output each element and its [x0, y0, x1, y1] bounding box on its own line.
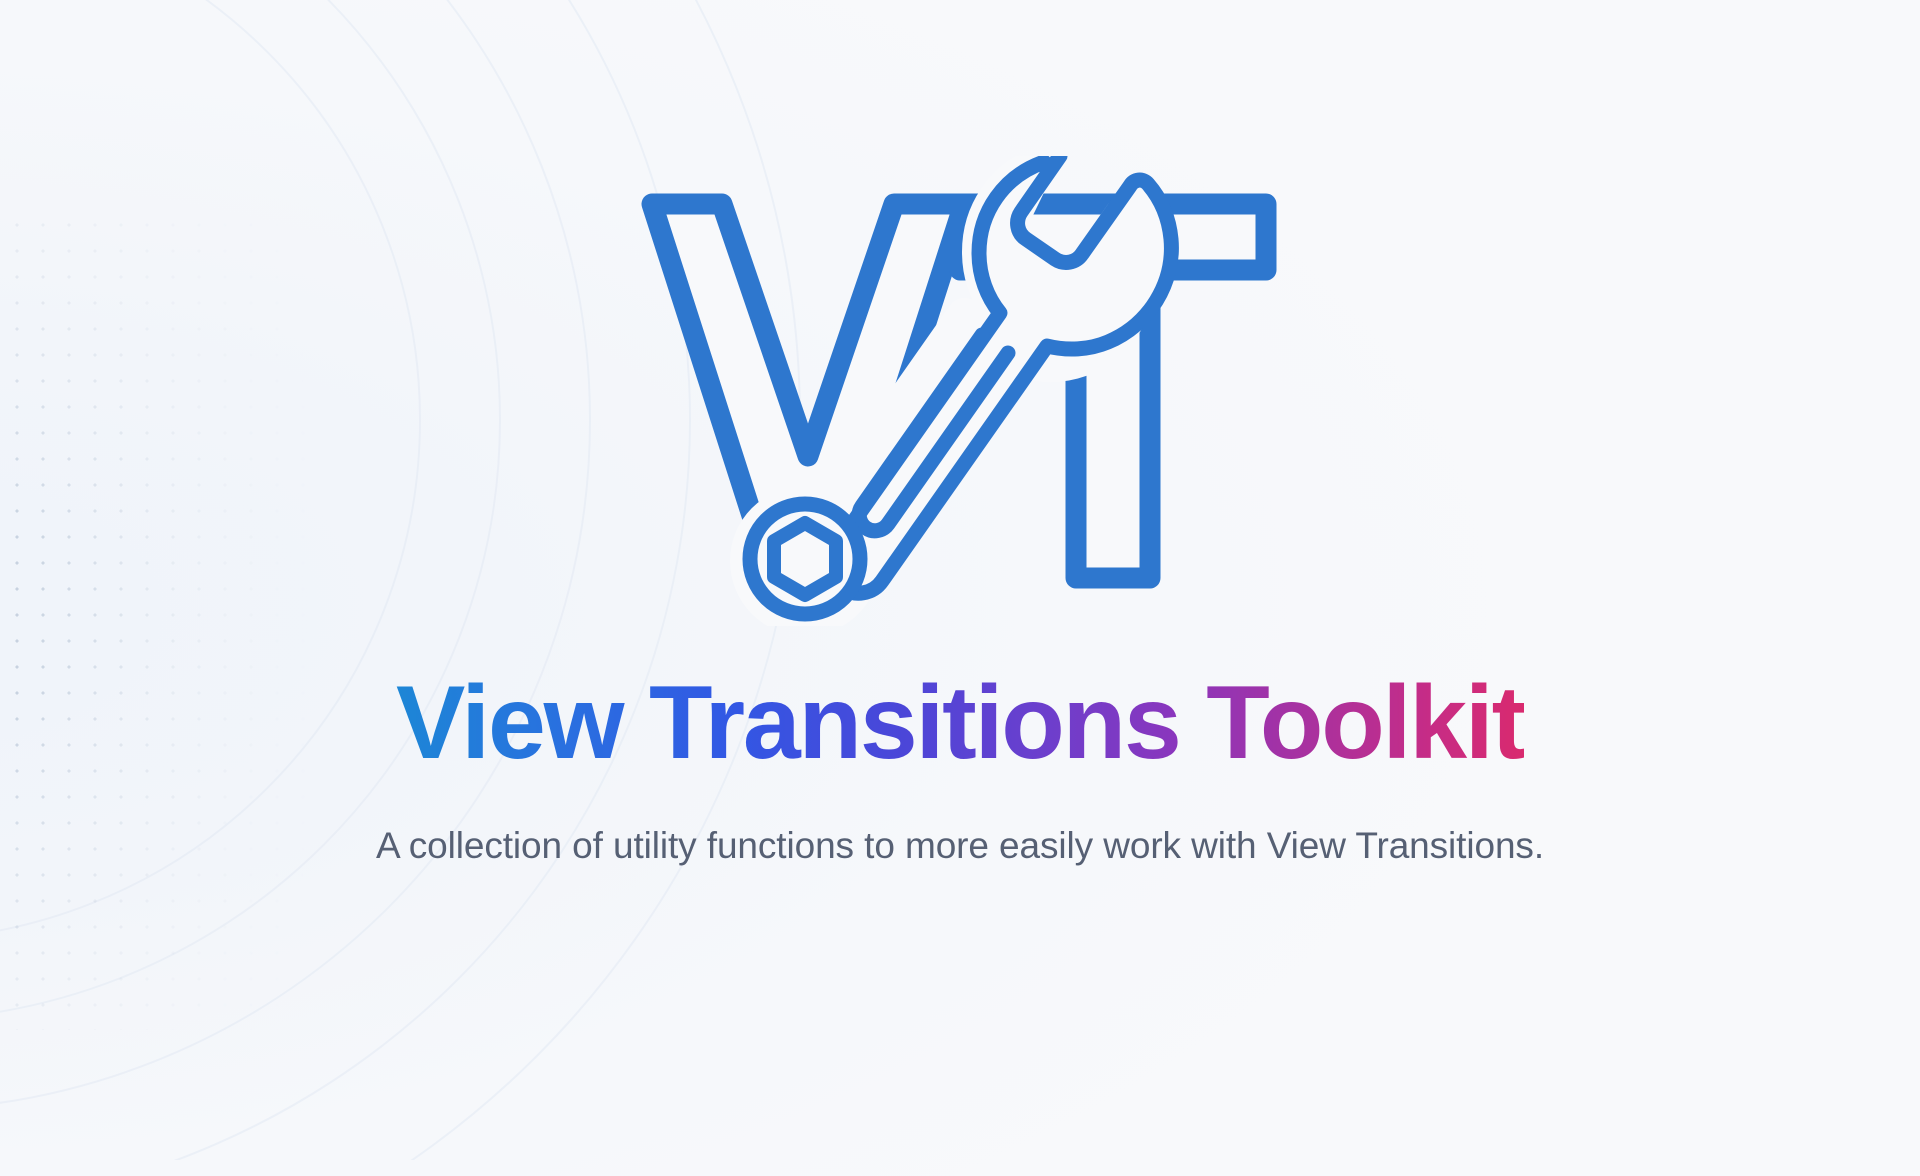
hero-card: View Transitions Toolkit A collection of… [0, 0, 1920, 1176]
vt-wrench-logo [630, 156, 1290, 626]
page-title: View Transitions Toolkit [396, 668, 1524, 778]
page-subtitle: A collection of utility functions to mor… [376, 822, 1544, 870]
hero-content: View Transitions Toolkit A collection of… [0, 0, 1920, 870]
